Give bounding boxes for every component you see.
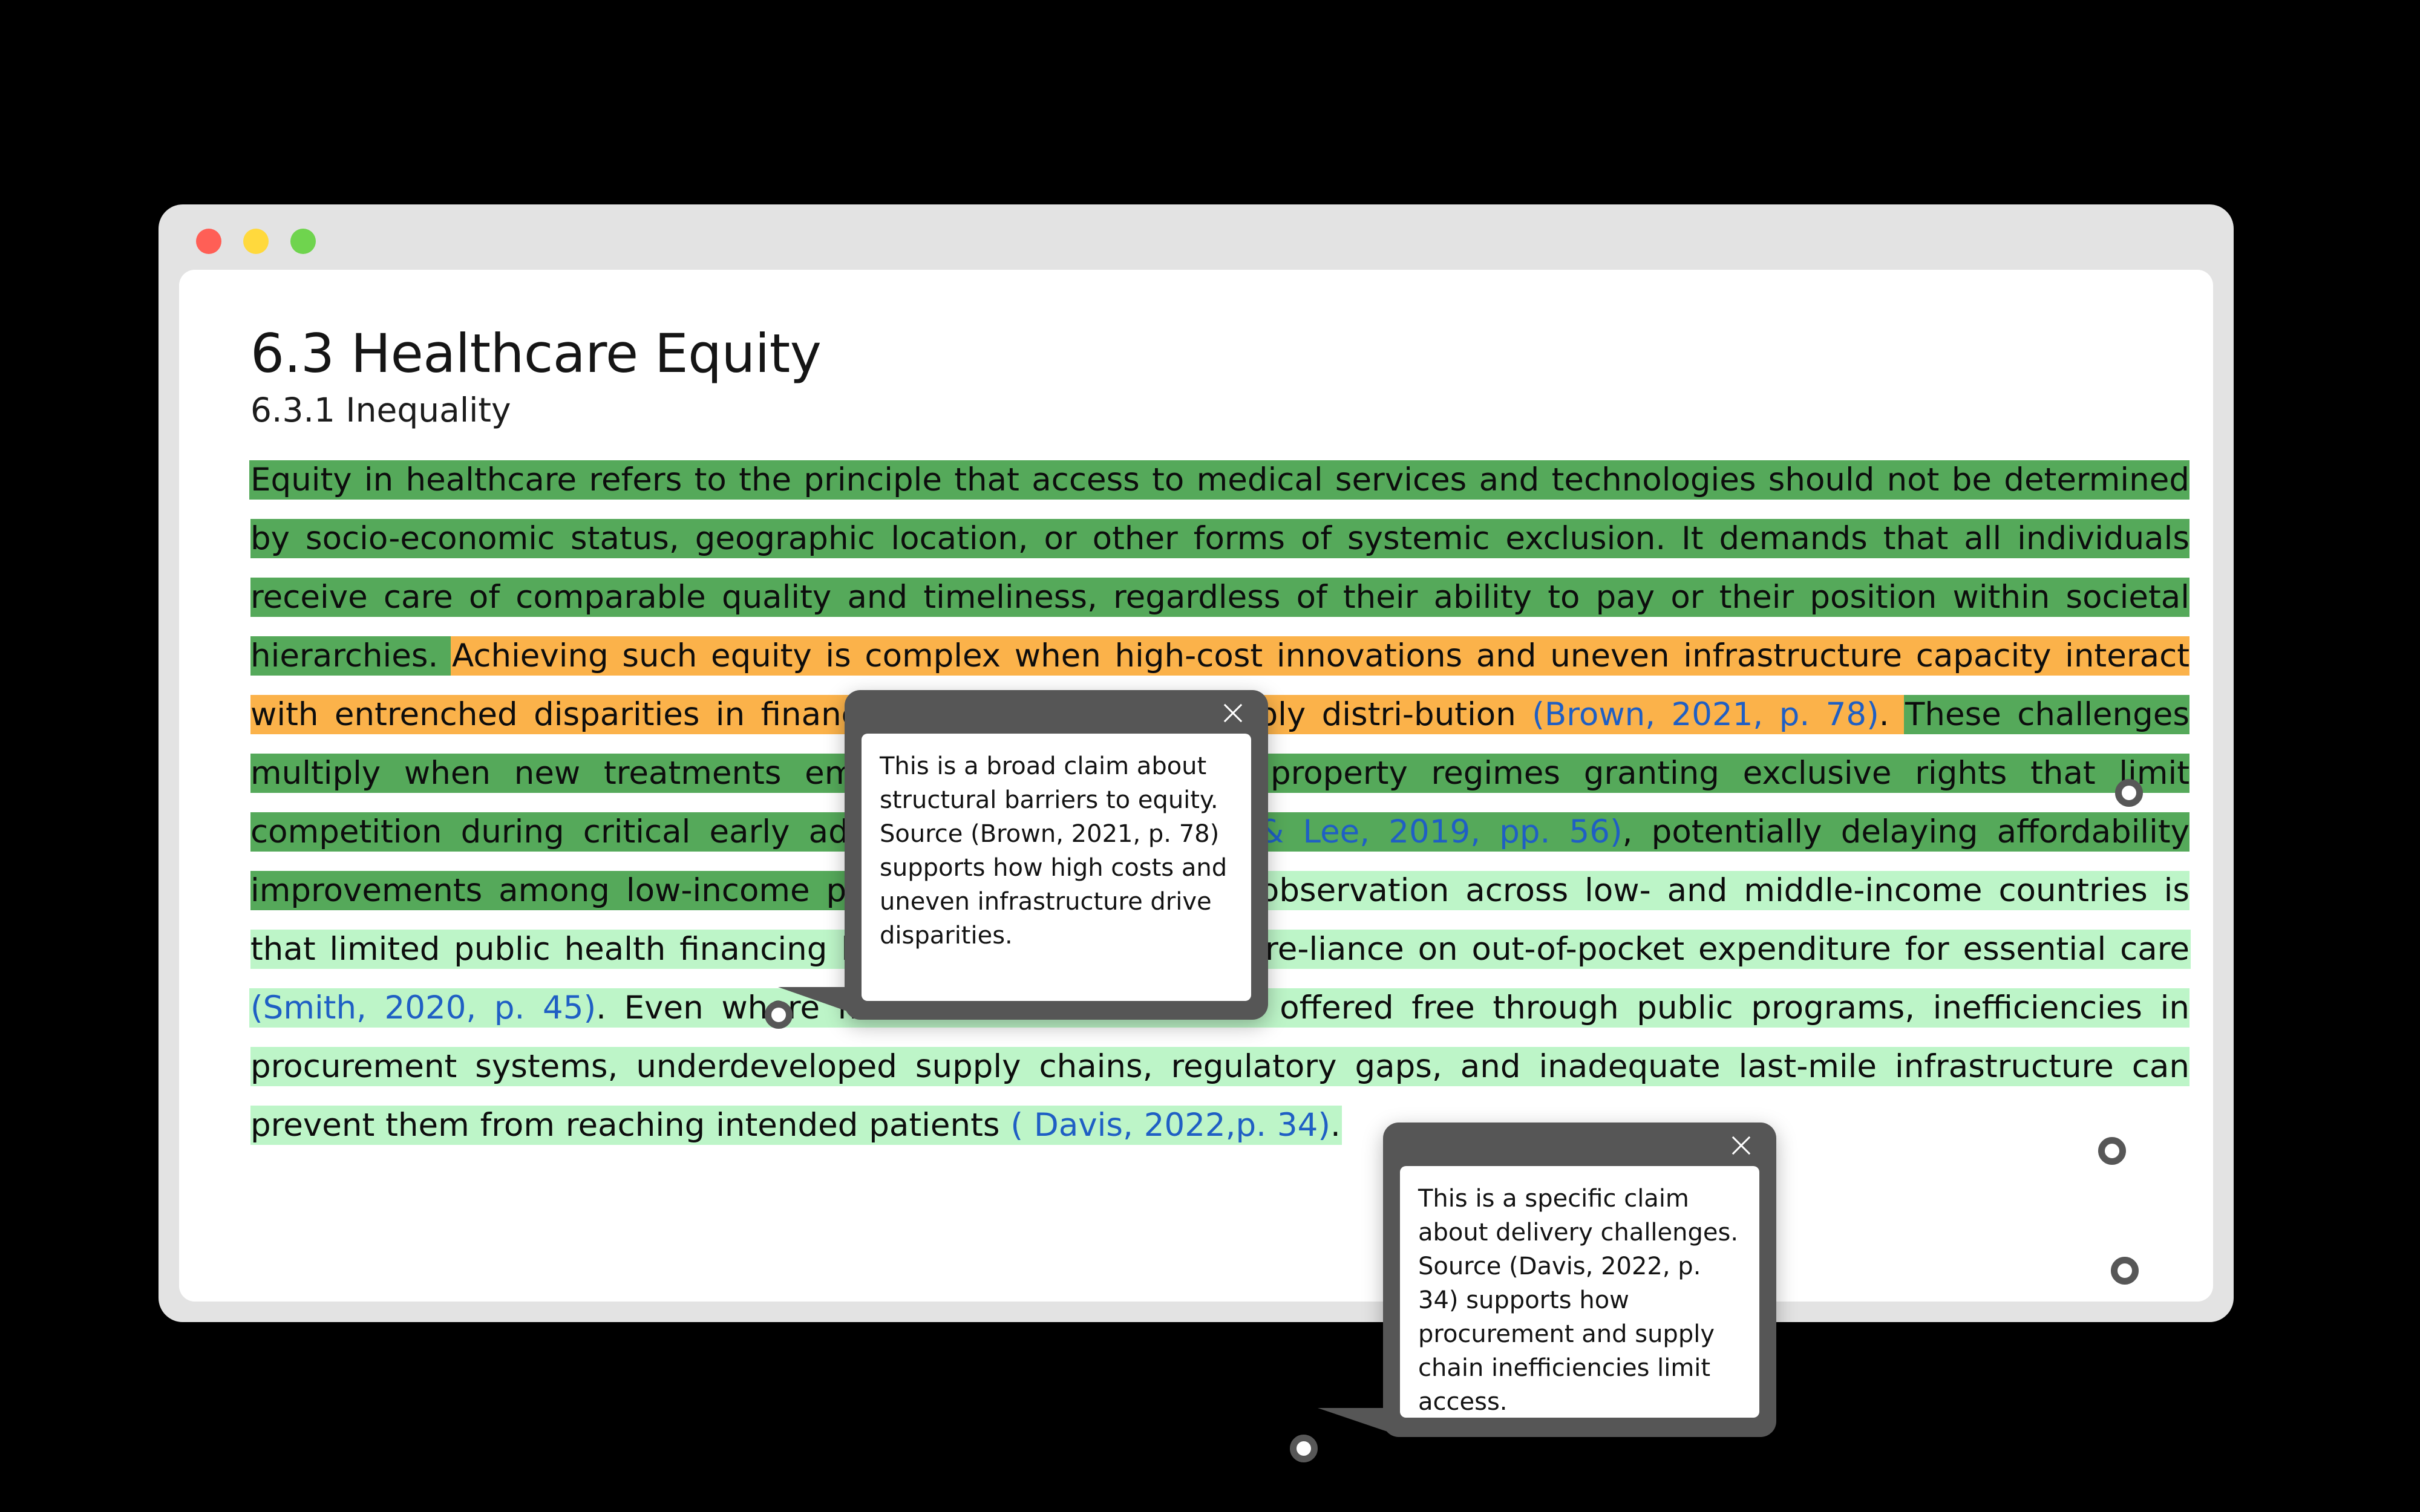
annotation-anchor-5[interactable] [1290, 1435, 1318, 1462]
tooltip-header [1383, 1123, 1776, 1166]
annotation-anchor-4[interactable] [2111, 1257, 2139, 1285]
minimize-window-button[interactable] [243, 229, 269, 254]
citation-link[interactable]: ( Davis, 2022,p. 34) [1010, 1107, 1330, 1144]
tooltip-header [845, 690, 1268, 734]
tooltip-pointer-tail [1318, 1408, 1389, 1432]
tooltip-text: This is a broad claim about structural b… [862, 734, 1251, 1001]
annotation-anchor-3[interactable] [2098, 1137, 2126, 1165]
window-titlebar [159, 204, 2234, 271]
tooltip-pointer-tail [778, 987, 851, 1012]
close-icon[interactable] [1727, 1131, 1756, 1160]
traffic-light-group [196, 229, 316, 254]
highlighted-text-run: . [1330, 1107, 1341, 1144]
annotation-anchor-1[interactable] [2115, 779, 2143, 807]
annotation-tooltip-1: This is a broad claim about structural b… [845, 690, 1268, 1020]
tooltip-text: This is a specific claim about delivery … [1400, 1166, 1759, 1418]
close-window-button[interactable] [196, 229, 221, 254]
citation-link[interactable]: (Smith, 2020, p. 45) [250, 989, 596, 1026]
document-page-surface: 6.3 Healthcare Equity 6.3.1 Inequality E… [179, 270, 2213, 1302]
page-title: 6.3 Healthcare Equity [250, 324, 2193, 384]
highlighted-text-run: . [1879, 696, 1905, 733]
maximize-window-button[interactable] [290, 229, 316, 254]
section-subtitle: 6.3.1 Inequality [250, 390, 2193, 430]
close-icon[interactable] [1218, 699, 1248, 728]
citation-link[interactable]: (Brown, 2021, p. 78) [1532, 696, 1879, 733]
annotation-tooltip-2: This is a specific claim about delivery … [1383, 1123, 1776, 1437]
app-window: 6.3 Healthcare Equity 6.3.1 Inequality E… [159, 204, 2234, 1322]
